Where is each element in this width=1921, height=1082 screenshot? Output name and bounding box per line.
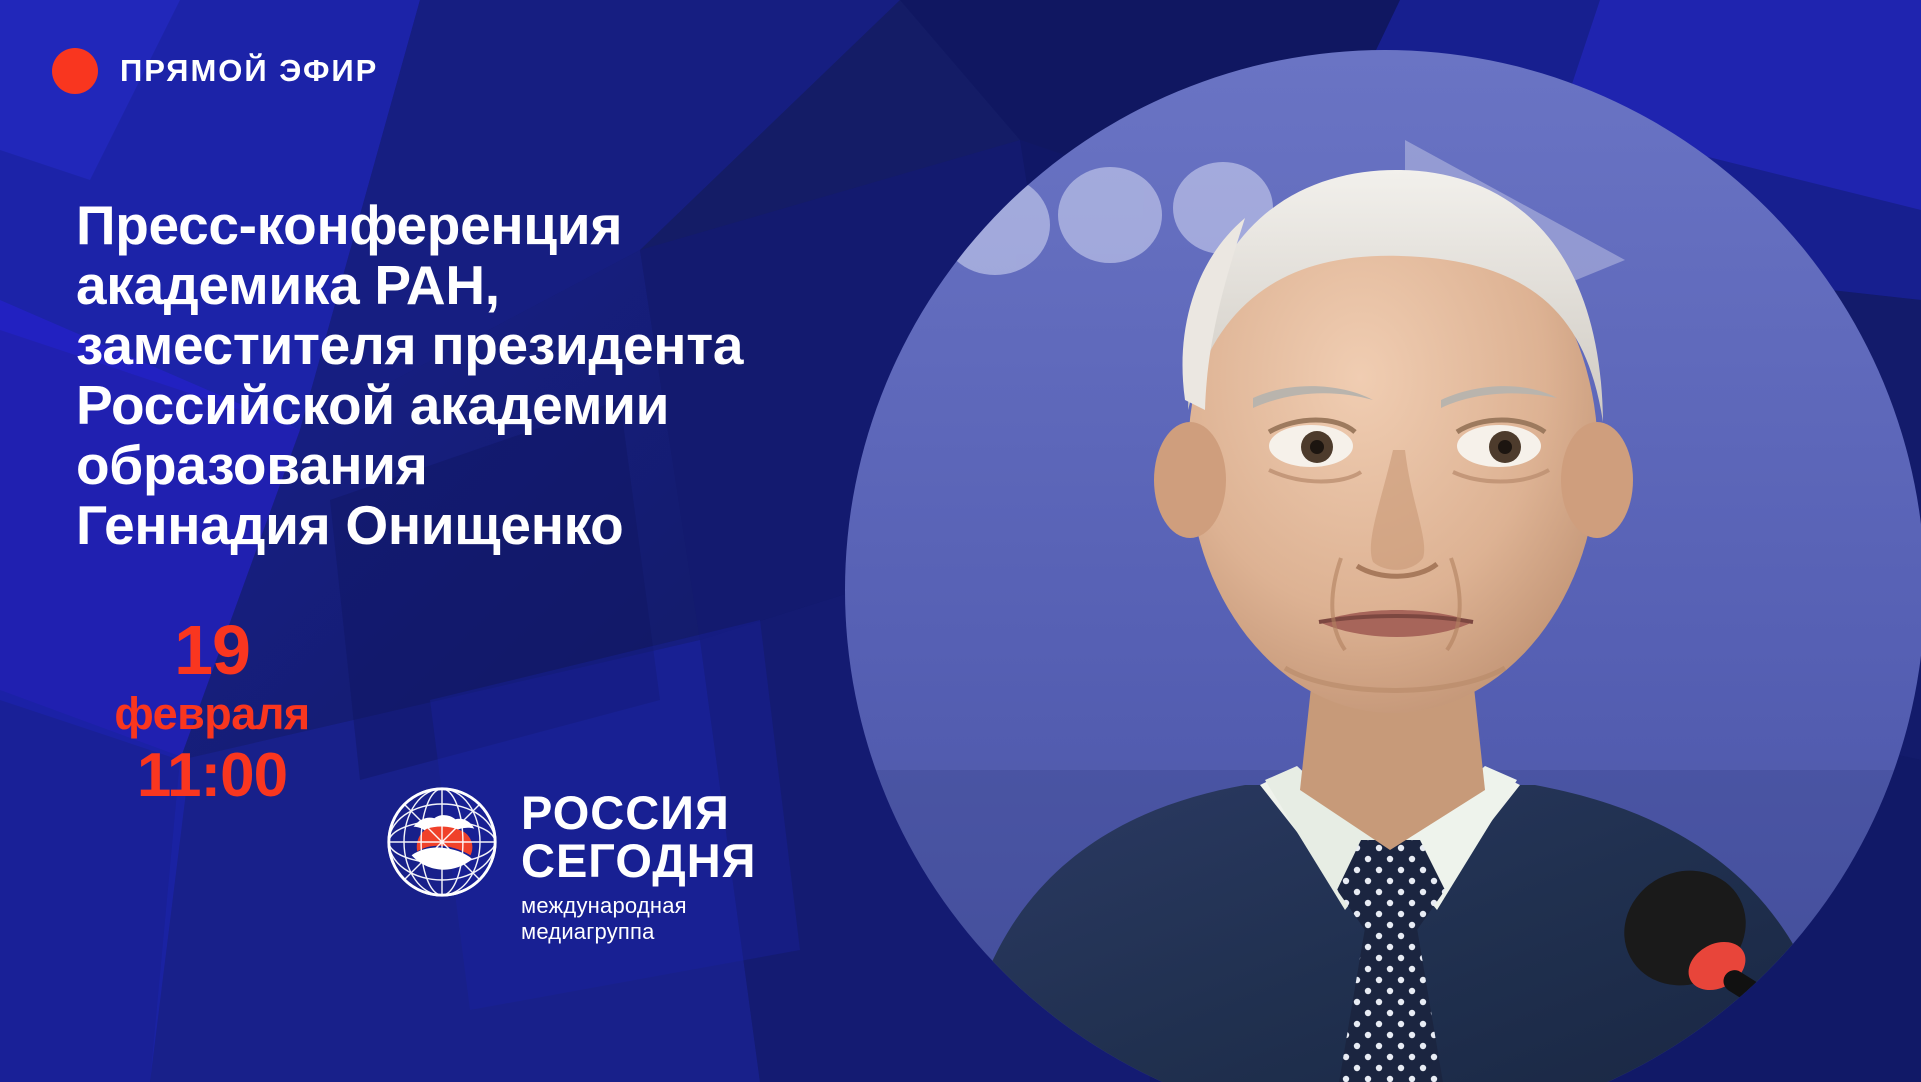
live-dot-icon (52, 48, 98, 94)
globe-icon (385, 785, 499, 899)
announcement-banner: ПРЯМОЙ ЭФИР Пресс-конференция академика … (0, 0, 1921, 1082)
schedule-block: 19 февраля 11:00 (78, 613, 346, 811)
logo-line-2: СЕГОДНЯ (521, 837, 756, 885)
schedule-time: 11:00 (78, 741, 346, 811)
logo-subtitle-2: медиагруппа (521, 919, 756, 945)
speaker-portrait (845, 50, 1921, 1082)
headline-line-4: Российской академии (76, 375, 906, 435)
headline-line-6: Геннадия Онищенко (76, 495, 906, 555)
headline-line-2: академика РАН, (76, 255, 906, 315)
headline: Пресс-конференция академика РАН, замести… (76, 195, 906, 555)
schedule-day: 19 (78, 613, 346, 687)
schedule-month: февраля (78, 687, 346, 741)
live-badge: ПРЯМОЙ ЭФИР (52, 48, 378, 94)
rossiya-segodnya-logo: РОССИЯ СЕГОДНЯ международная медиагруппа (385, 785, 756, 945)
logo-subtitle-1: международная (521, 893, 756, 919)
live-badge-label: ПРЯМОЙ ЭФИР (120, 53, 378, 89)
headline-line-3: заместителя президента (76, 315, 906, 375)
logo-line-1: РОССИЯ (521, 789, 756, 837)
headline-line-5: образования (76, 435, 906, 495)
headline-line-1: Пресс-конференция (76, 195, 906, 255)
